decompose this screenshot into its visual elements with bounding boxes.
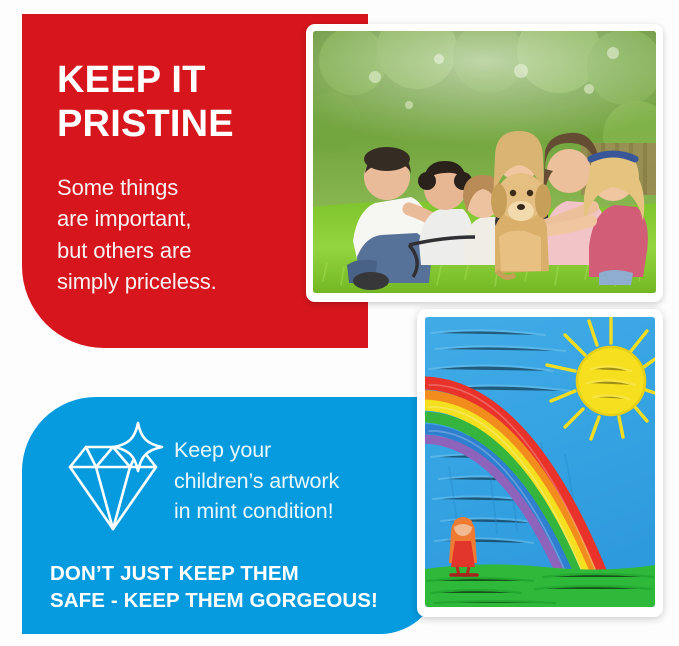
message-line-1: Keep your [174,435,339,466]
message-line-2: children’s artwork [174,466,339,497]
body-line-3: but others are [57,235,217,266]
blue-feature-panel: Keep your children’s artwork in mint con… [22,397,440,634]
body-line-4: simply priceless. [57,266,217,297]
headline-line-1: KEEP IT [57,58,234,102]
crayon-girl-figure [449,517,477,575]
red-panel-body-text: Some things are important, but others ar… [57,172,217,298]
callout-line-2: SAFE - KEEP THEM GORGEOUS! [50,587,378,614]
diamond-sparkle-icon [50,419,172,541]
body-line-1: Some things [57,172,217,203]
child-artwork-card [417,309,663,617]
body-line-2: are important, [57,203,217,234]
message-line-3: in mint condition! [174,496,339,527]
red-panel-headline: KEEP IT PRISTINE [57,58,234,147]
poster-canvas: KEEP IT PRISTINE Some things are importa… [0,0,679,646]
family-photo-image [313,31,656,293]
family-photo-card [306,24,663,302]
blue-panel-message: Keep your children’s artwork in mint con… [174,435,339,527]
crayon-grass [425,564,655,607]
callout-line-1: DON’T JUST KEEP THEM [50,560,378,587]
headline-line-2: PRISTINE [57,102,234,146]
child-artwork-image [425,317,655,607]
blue-panel-callout: DON’T JUST KEEP THEM SAFE - KEEP THEM GO… [50,560,378,615]
